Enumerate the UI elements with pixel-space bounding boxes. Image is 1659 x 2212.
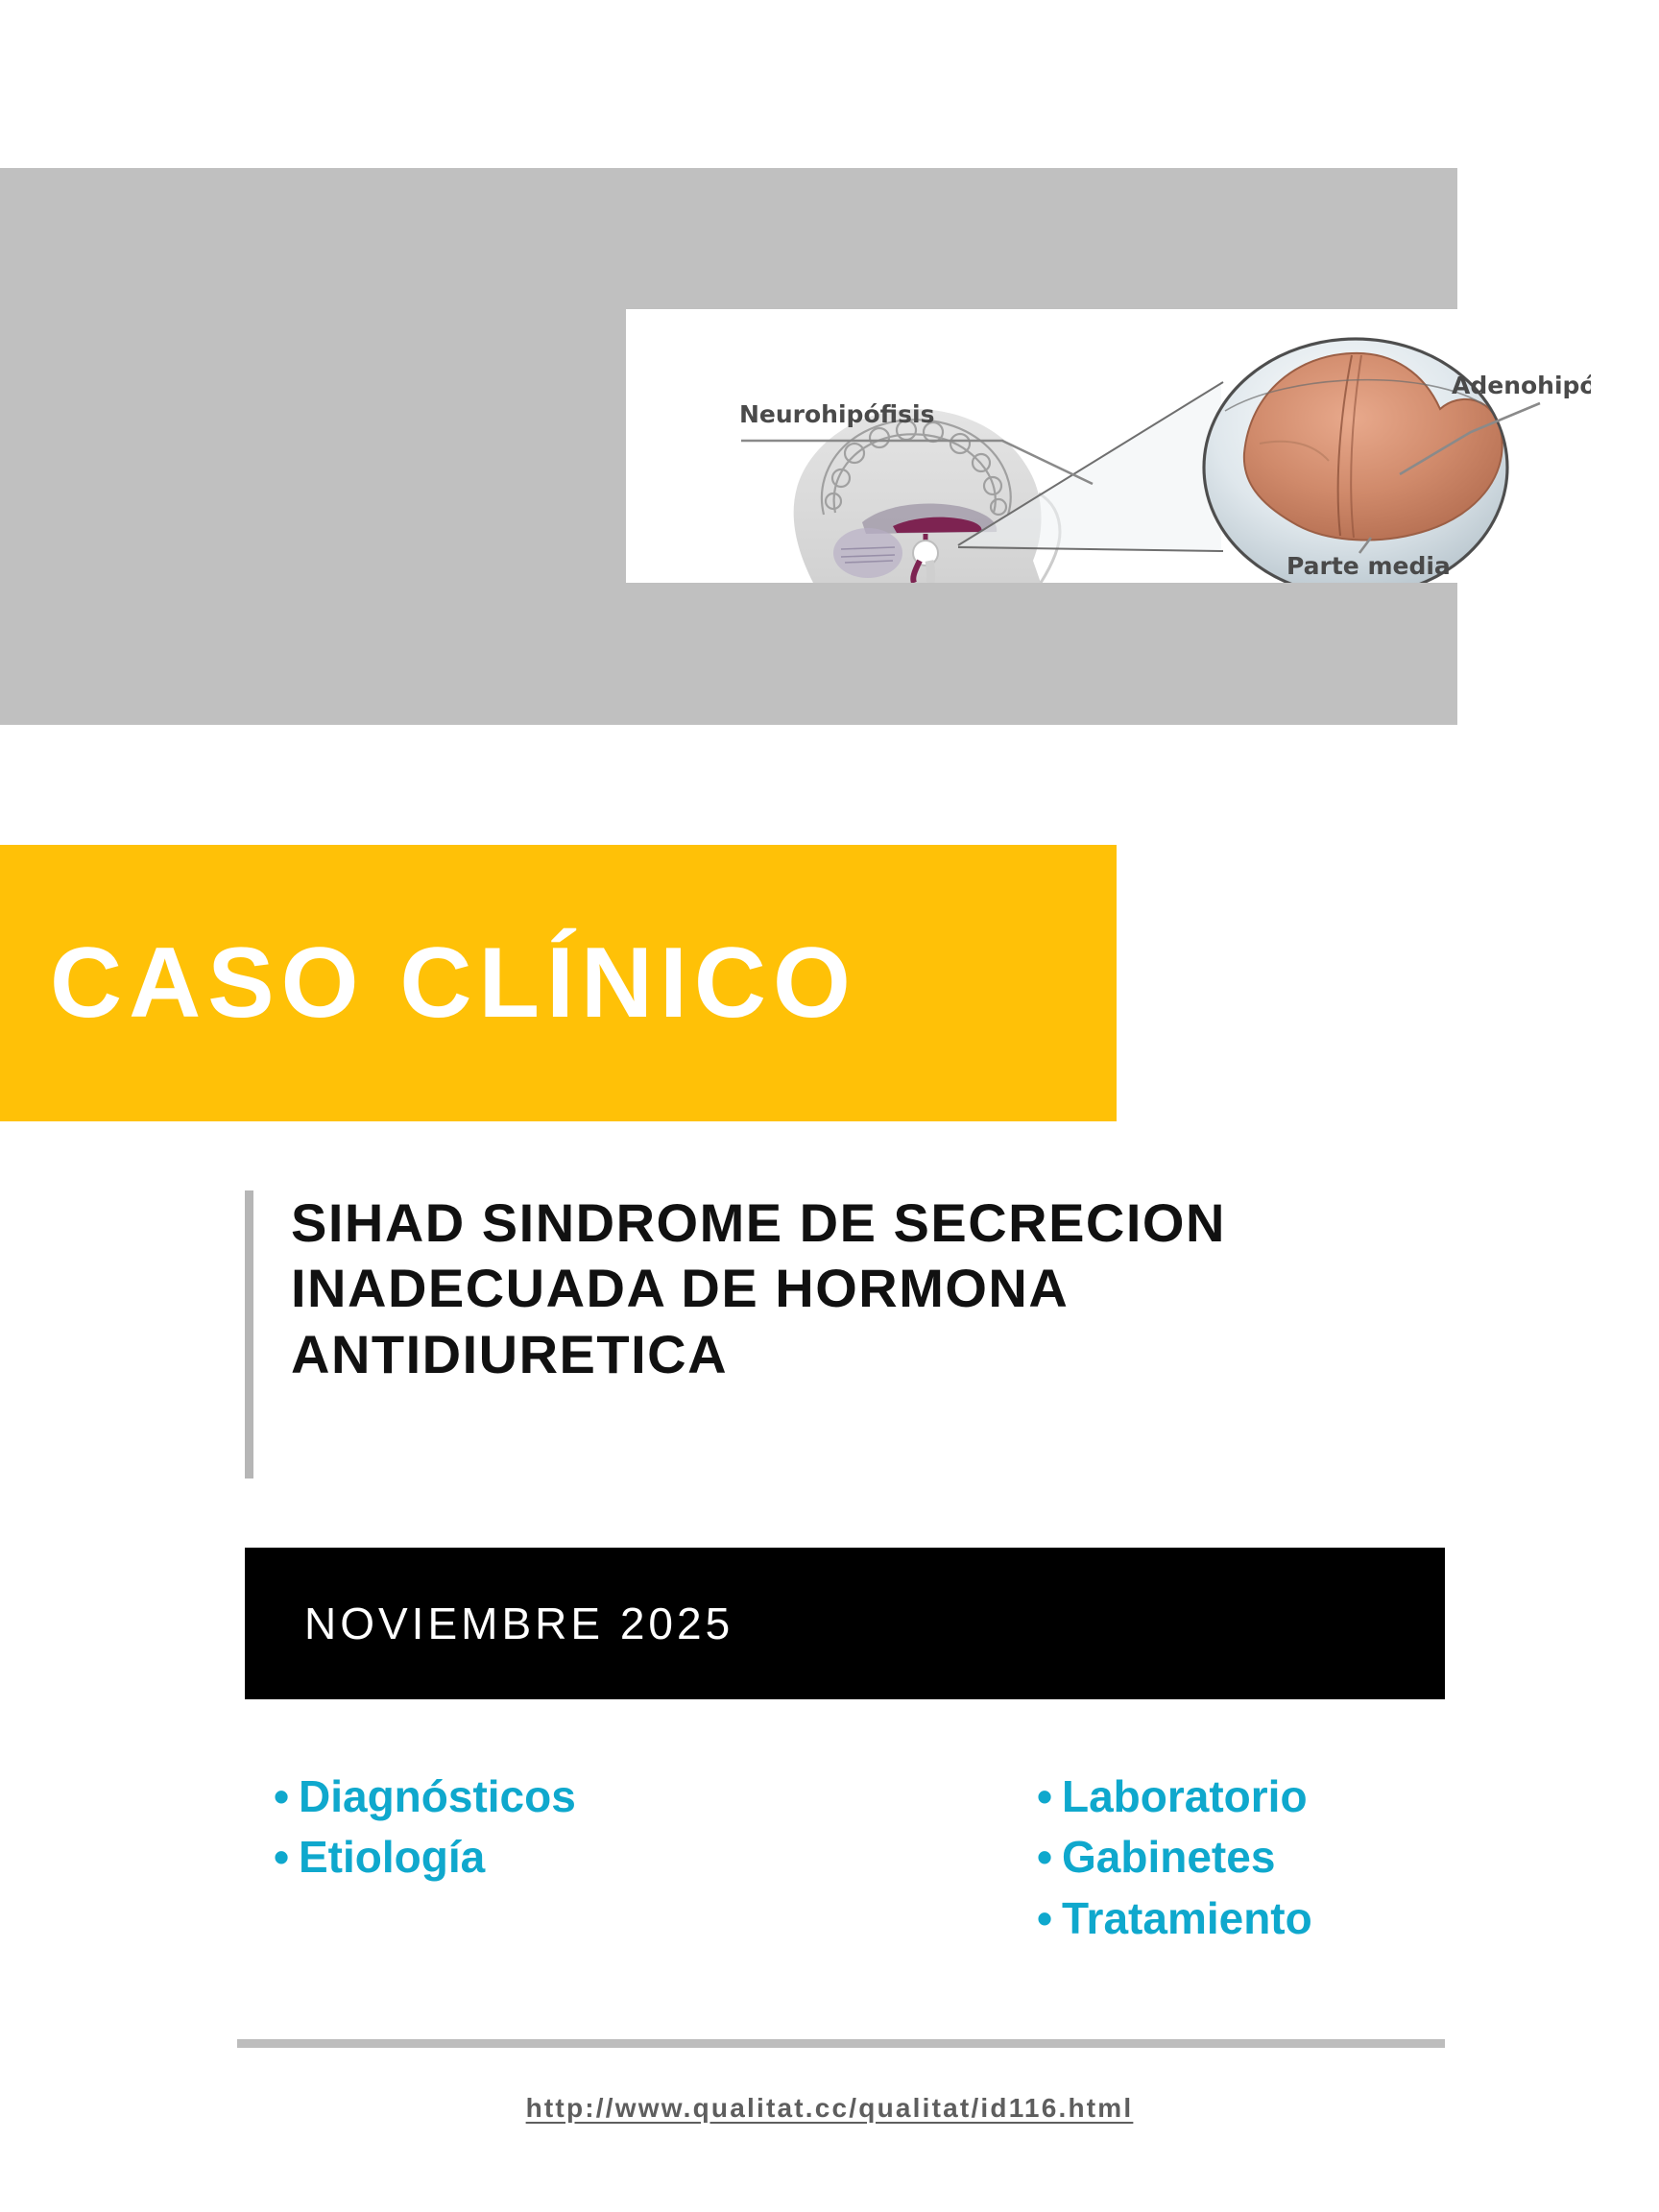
topic-label: Etiología [299, 1827, 485, 1887]
date-bar: NOVIEMBRE 2025 [245, 1548, 1445, 1699]
topic-label: Tratamiento [1062, 1888, 1312, 1949]
topics-column-right: • Laboratorio • Gabinetes • Tratamiento [850, 1767, 1455, 1949]
cerebellum [833, 528, 902, 578]
bullet-icon: • [1037, 1835, 1062, 1879]
list-item[interactable]: • Etiología [274, 1827, 850, 1887]
list-item[interactable]: • Gabinetes [1037, 1827, 1455, 1887]
topic-label: Laboratorio [1062, 1767, 1308, 1827]
label-neurohipofisis: Neurohipófisis [739, 400, 934, 428]
pituitary-anatomy-figure: Neurohipófisis Adenohipófisis Parte medi… [626, 309, 1591, 583]
topic-label: Diagnósticos [299, 1767, 576, 1827]
source-url-link[interactable]: http://www.qualitat.cc/qualitat/id116.ht… [0, 2093, 1659, 2124]
page-title: SIHAD SINDROME DE SECRECION INADECUADA D… [291, 1190, 1483, 1387]
topics-column-left: • Diagnósticos • Etiología [245, 1767, 850, 1949]
list-item[interactable]: • Tratamiento [1037, 1888, 1455, 1949]
bullet-icon: • [274, 1835, 299, 1879]
bullet-icon: • [1037, 1774, 1062, 1818]
bullet-icon: • [1037, 1896, 1062, 1940]
bullet-icon: • [274, 1774, 299, 1818]
list-item[interactable]: • Diagnósticos [274, 1767, 850, 1827]
topic-label: Gabinetes [1062, 1827, 1275, 1887]
topics-list: • Diagnósticos • Etiología • Laboratorio… [245, 1767, 1455, 1949]
label-parte-media: Parte media [1286, 552, 1451, 580]
label-adenohipofisis: Adenohipófisis [1452, 372, 1591, 399]
caso-clinico-banner: CASO CLÍNICO [0, 845, 1117, 1121]
title-block: SIHAD SINDROME DE SECRECION INADECUADA D… [245, 1190, 1483, 1387]
pituitary-diagram-svg: Neurohipófisis Adenohipófisis Parte medi… [626, 309, 1591, 583]
banner-title: CASO CLÍNICO [50, 933, 857, 1033]
title-left-rule [245, 1190, 253, 1479]
list-item[interactable]: • Laboratorio [1037, 1767, 1455, 1827]
date-label: NOVIEMBRE 2025 [304, 1598, 733, 1649]
footer-divider [237, 2039, 1445, 2048]
